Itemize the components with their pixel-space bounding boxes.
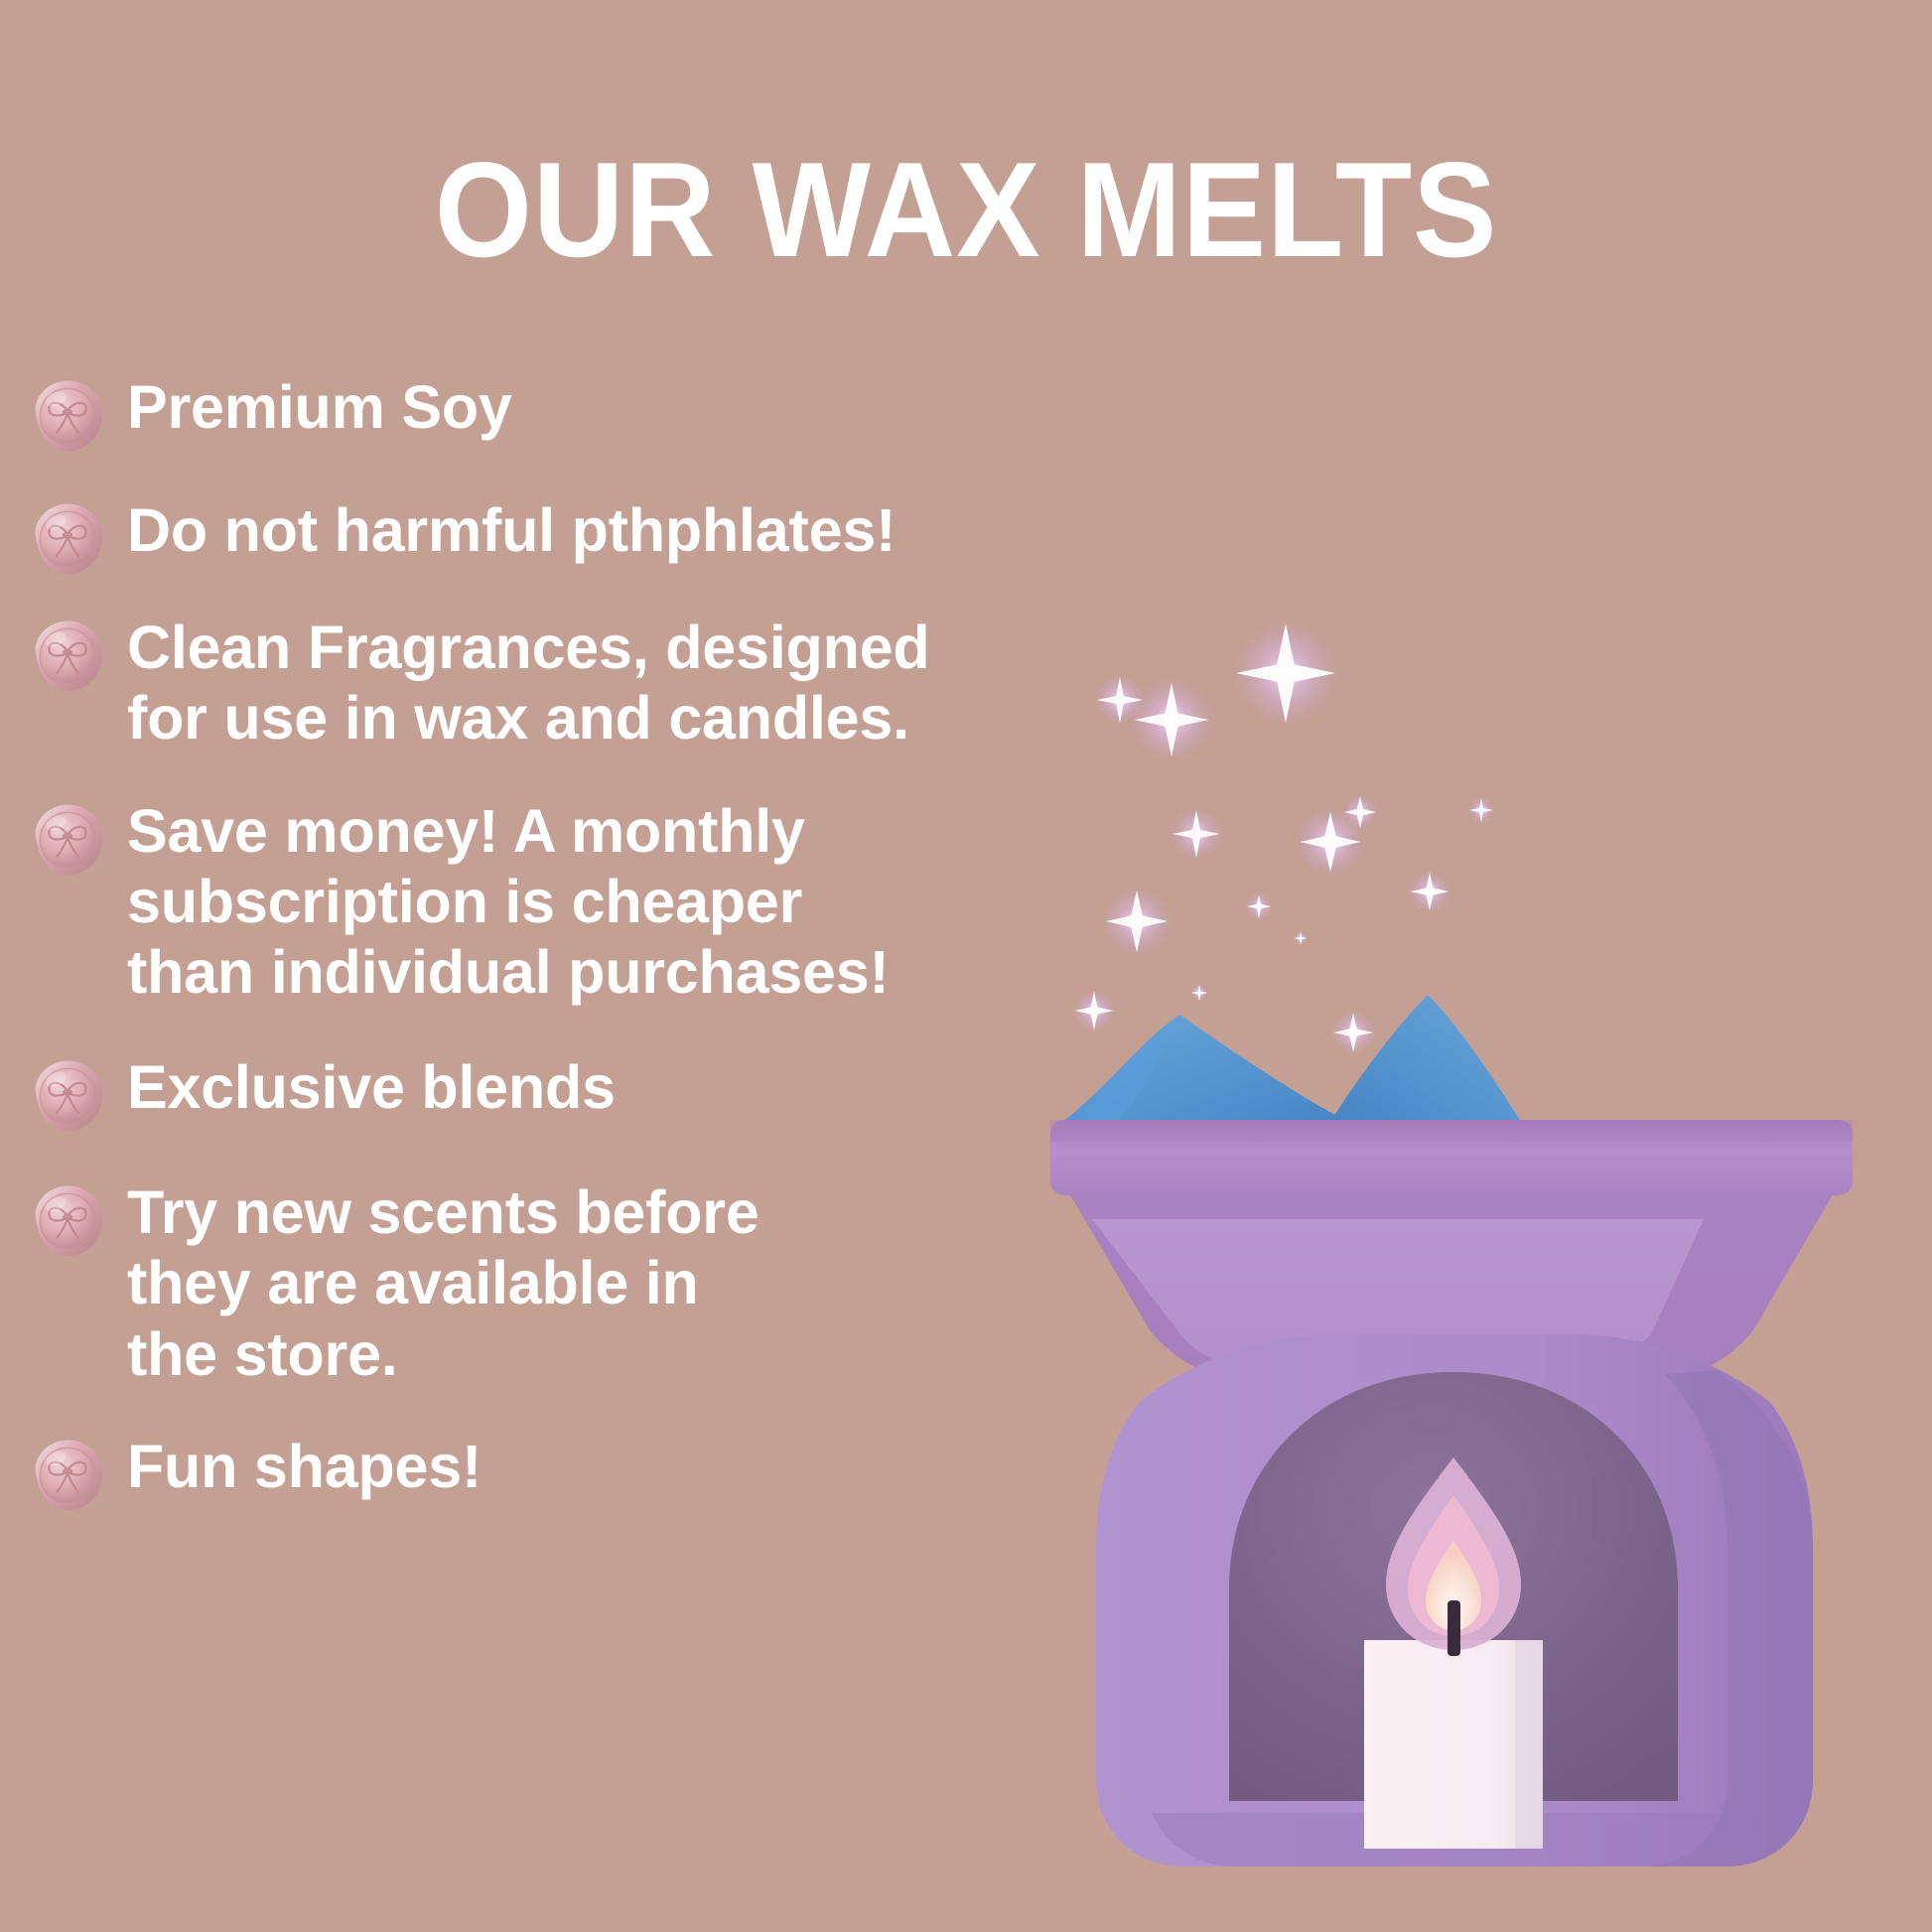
wax-melts [1062, 995, 1521, 1122]
list-item: Clean Fragrances, designed for use in wa… [26, 611, 1197, 755]
page-title: OUR WAX MELTS [68, 142, 1864, 277]
list-item: Do not harmful pthphlates! [26, 493, 1197, 581]
list-item-label: Fun shapes! [127, 1430, 482, 1502]
wax-seal-bow-icon [26, 497, 109, 581]
candle-shade [1515, 1640, 1543, 1849]
wax-seal-bow-icon [26, 615, 109, 698]
list-item-label: Try new scents before they are available… [127, 1175, 759, 1390]
list-item-label: Clean Fragrances, designed for use in wa… [127, 611, 929, 755]
wax-seal-bow-icon [26, 374, 109, 458]
list-item: Fun shapes! [26, 1430, 1197, 1517]
poster-canvas: OUR WAX MELTS [0, 0, 1932, 1932]
list-item-label: Save money! A monthly subscription is ch… [127, 794, 890, 1009]
candle-wick [1448, 1600, 1460, 1656]
wax-melt-warmer-illustration [1033, 596, 1932, 1932]
list-item-label: Premium Soy [127, 370, 512, 443]
list-item: Premium Soy [26, 370, 1197, 458]
list-item: Exclusive blends [26, 1050, 1197, 1138]
wax-seal-bow-icon [26, 1179, 109, 1263]
sparkles-group [1033, 621, 1494, 1054]
list-item: Try new scents before they are available… [26, 1175, 1197, 1390]
wax-seal-bow-icon [26, 798, 109, 882]
list-item-label: Do not harmful pthphlates! [127, 493, 896, 566]
list-item: Save money! A monthly subscription is ch… [26, 794, 1197, 1009]
feature-list: Premium Soy Do not h [26, 370, 1197, 1517]
wax-seal-bow-icon [26, 1054, 109, 1138]
list-item-label: Exclusive blends [127, 1050, 616, 1123]
wax-seal-bow-icon [26, 1434, 109, 1517]
